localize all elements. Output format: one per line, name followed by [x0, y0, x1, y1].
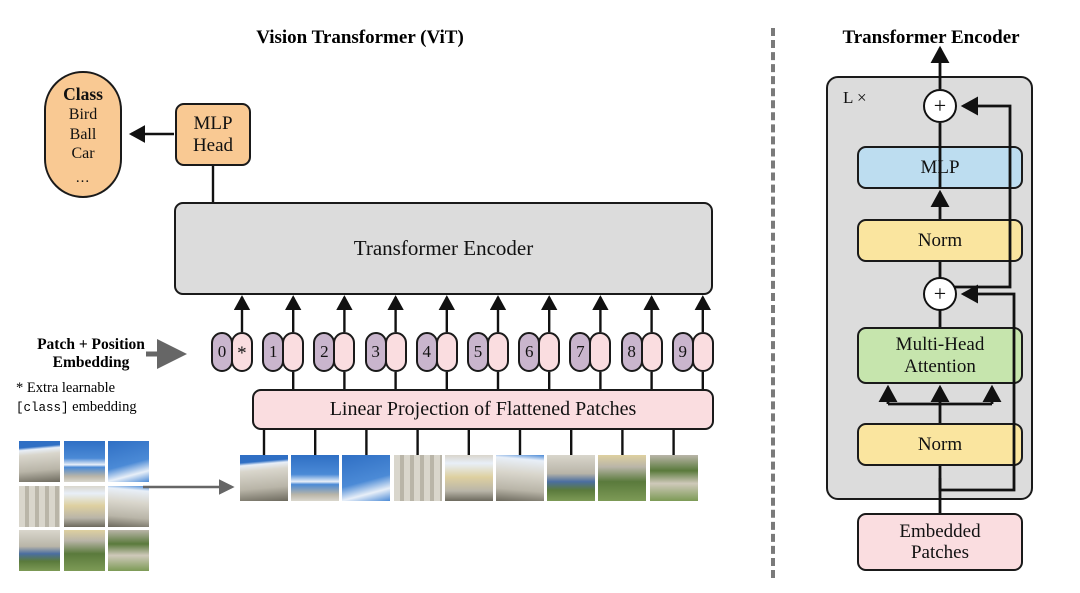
source-patch-8 — [108, 530, 149, 571]
embedded-patches-box: Embedded Patches — [857, 513, 1023, 571]
position-embedding-5: 5 — [467, 332, 489, 372]
position-embedding-9: 9 — [672, 332, 694, 372]
position-embedding-6: 6 — [518, 332, 540, 372]
patch-embedding-2 — [333, 332, 355, 372]
transformer-encoder-bar-label: Transformer Encoder — [354, 237, 533, 261]
residual-add-top: + — [923, 89, 957, 123]
patch-embedding-3 — [385, 332, 407, 372]
patch-embedding-4 — [436, 332, 458, 372]
token-3: 3 — [365, 332, 407, 372]
mha-label-line1: Multi-Head — [896, 334, 985, 355]
source-patch-5 — [108, 486, 149, 527]
encoder-norm1-label: Norm — [918, 434, 962, 455]
footnote-line2: [class] embedding — [16, 398, 184, 417]
vit-diagram: Vision Transformer (ViT) Transformer Enc… — [0, 0, 1080, 593]
sequence-patch-6 — [547, 455, 595, 501]
sequence-patch-1 — [291, 455, 339, 501]
linear-projection-label: Linear Projection of Flattened Patches — [330, 398, 637, 420]
encoder-multihead-attention-block: Multi-Head Attention — [857, 327, 1023, 384]
token-4: 4 — [416, 332, 458, 372]
pp-label-line2: Embedding — [6, 354, 176, 372]
class-pill-title: Class — [63, 84, 103, 105]
pp-label-line1: Patch + Position — [6, 336, 176, 354]
class-label-car: Car — [71, 144, 94, 164]
position-embedding-2: 2 — [313, 332, 335, 372]
residual-add-top-symbol: + — [934, 95, 946, 117]
extra-learnable-footnote: * Extra learnable [class] embedding — [16, 379, 184, 416]
sequence-patch-4 — [445, 455, 493, 501]
token-1: 1 — [262, 332, 304, 372]
footnote-class-token: [class] — [16, 401, 69, 415]
right-panel-title: Transformer Encoder — [816, 27, 1046, 49]
linear-projection-bar: Linear Projection of Flattened Patches — [252, 389, 714, 430]
mlp-head-line1: MLP — [193, 113, 232, 135]
position-embedding-3: 3 — [365, 332, 387, 372]
source-patch-1 — [64, 441, 105, 482]
position-embedding-4: 4 — [416, 332, 438, 372]
token-7: 7 — [569, 332, 611, 372]
class-label-ball: Ball — [70, 125, 97, 145]
token-0: 0* — [211, 332, 253, 372]
patch-embedding-8 — [641, 332, 663, 372]
layer-repeat-label: L × — [843, 88, 867, 108]
token-2: 2 — [313, 332, 355, 372]
token-6: 6 — [518, 332, 560, 372]
sequence-patch-2 — [342, 455, 390, 501]
patch-embedding-0: * — [231, 332, 253, 372]
embedded-patches-line1: Embedded — [899, 521, 980, 542]
sequence-patch-3 — [394, 455, 442, 501]
mha-label-line2: Attention — [904, 356, 976, 377]
residual-add-mid-symbol: + — [934, 283, 946, 305]
mlp-head-line2: Head — [193, 135, 233, 157]
embedded-patches-line2: Patches — [911, 542, 969, 563]
patch-embedding-6 — [538, 332, 560, 372]
token-8: 8 — [621, 332, 663, 372]
token-9: 9 — [672, 332, 714, 372]
encoder-norm1-block: Norm — [857, 423, 1023, 466]
patch-embedding-9 — [692, 332, 714, 372]
source-patch-2 — [108, 441, 149, 482]
panel-divider — [771, 28, 775, 578]
sequence-patch-7 — [598, 455, 646, 501]
source-patch-0 — [19, 441, 60, 482]
position-embedding-8: 8 — [621, 332, 643, 372]
mlp-head-box: MLP Head — [175, 103, 251, 166]
footnote-line2-tail: embedding — [69, 399, 137, 415]
token-5: 5 — [467, 332, 509, 372]
position-embedding-7: 7 — [569, 332, 591, 372]
source-patch-3 — [19, 486, 60, 527]
sequence-patch-5 — [496, 455, 544, 501]
class-ellipsis: ... — [76, 169, 90, 187]
class-token-asterisk: * — [237, 351, 247, 354]
sequence-patch-0 — [240, 455, 288, 501]
class-label-bird: Bird — [69, 105, 97, 125]
transformer-encoder-bar: Transformer Encoder — [174, 202, 713, 295]
encoder-norm2-label: Norm — [918, 230, 962, 251]
patch-embedding-5 — [487, 332, 509, 372]
left-panel-title: Vision Transformer (ViT) — [180, 27, 540, 49]
position-embedding-0: 0 — [211, 332, 233, 372]
patch-embedding-7 — [589, 332, 611, 372]
source-patch-6 — [19, 530, 60, 571]
encoder-mlp-label: MLP — [920, 157, 959, 178]
footnote-line1: * Extra learnable — [16, 379, 184, 398]
class-output-pill: Class Bird Ball Car ... — [44, 71, 122, 198]
patch-position-embedding-label: Patch + Position Embedding — [6, 336, 176, 372]
position-embedding-1: 1 — [262, 332, 284, 372]
source-patch-4 — [64, 486, 105, 527]
encoder-mlp-block: MLP — [857, 146, 1023, 189]
source-patch-7 — [64, 530, 105, 571]
sequence-patch-8 — [650, 455, 698, 501]
patch-embedding-1 — [282, 332, 304, 372]
encoder-norm2-block: Norm — [857, 219, 1023, 262]
residual-add-mid: + — [923, 277, 957, 311]
